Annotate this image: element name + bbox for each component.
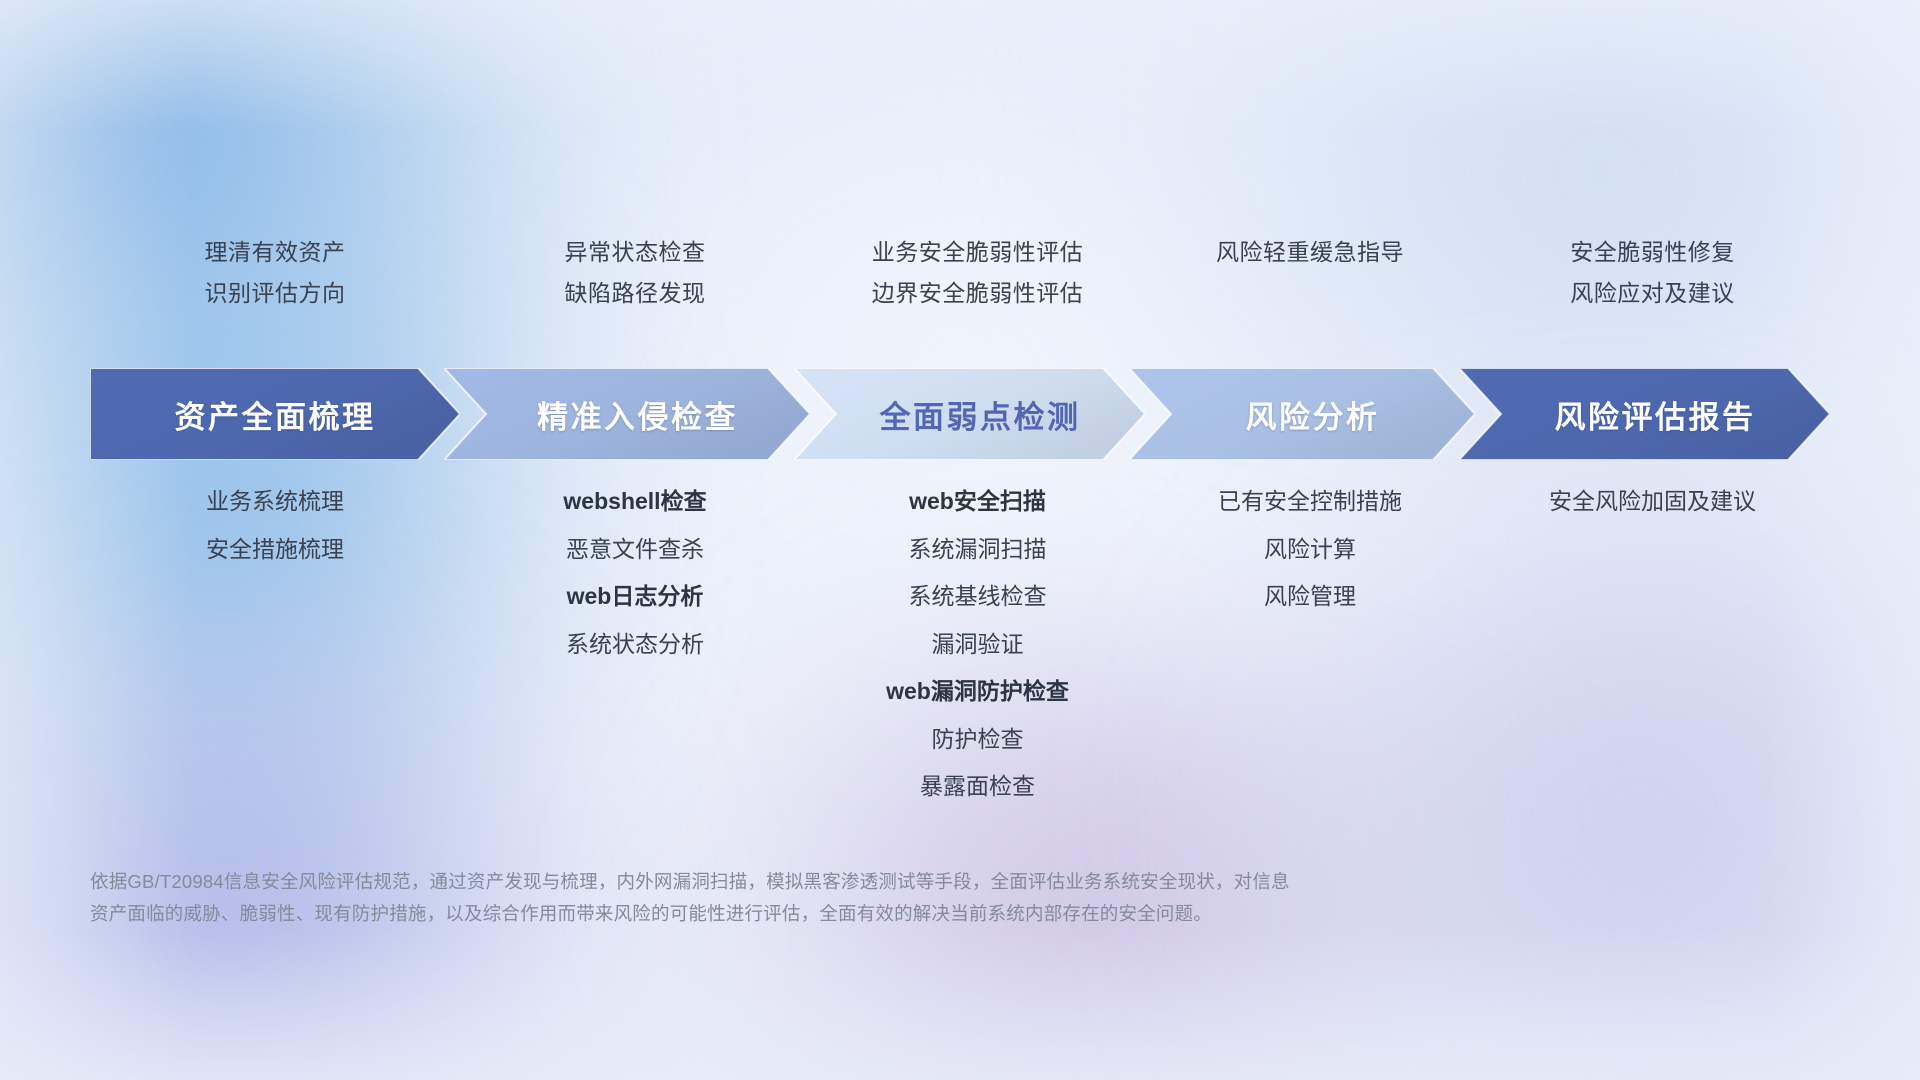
top-note-line: 缺陷路径发现 <box>460 273 810 314</box>
stage-items-weakness-detection: web安全扫描系统漏洞扫描系统基线检查漏洞验证web漏洞防护检查防护检查暴露面检… <box>810 478 1145 811</box>
footer-description: 依据GB/T20984信息安全风险评估规范，通过资产发现与梳理，内外网漏洞扫描，… <box>90 866 1610 930</box>
stage-label-weakness-detection: 全面弱点检测 <box>880 392 1081 437</box>
stage-label-intrusion-check: 精准入侵检查 <box>537 392 738 437</box>
stage-item: 防护检查 <box>810 716 1145 764</box>
stage-label-asset-review: 资产全面梳理 <box>175 392 376 437</box>
top-note-risk-report: 安全脆弱性修复风险应对及建议 <box>1475 232 1830 342</box>
stage-item: webshell检查 <box>460 478 810 526</box>
slide-root: 理清有效资产识别评估方向异常状态检查缺陷路径发现业务安全脆弱性评估边界安全脆弱性… <box>0 0 1920 1080</box>
stage-item: 恶意文件查杀 <box>460 526 810 574</box>
process-chevron-band: 资产全面梳理精准入侵检查全面弱点检测风险分析风险评估报告 <box>90 368 1830 460</box>
footer-line-2: 资产面临的威胁、脆弱性、现有防护措施，以及综合作用而带来风险的可能性进行评估，全… <box>90 898 1610 930</box>
top-note-line: 风险应对及建议 <box>1475 273 1830 314</box>
top-note-line: 业务安全脆弱性评估 <box>810 232 1145 273</box>
top-note-weakness-detection: 业务安全脆弱性评估边界安全脆弱性评估 <box>810 232 1145 342</box>
stage-item: 安全风险加固及建议 <box>1475 478 1830 526</box>
stage-label-risk-report: 风险评估报告 <box>1555 392 1756 437</box>
stage-item: 业务系统梳理 <box>90 478 460 526</box>
top-notes-row: 理清有效资产识别评估方向异常状态检查缺陷路径发现业务安全脆弱性评估边界安全脆弱性… <box>90 232 1830 342</box>
stage-item: web安全扫描 <box>810 478 1145 526</box>
top-note-line: 安全脆弱性修复 <box>1475 232 1830 273</box>
slide-content: 理清有效资产识别评估方向异常状态检查缺陷路径发现业务安全脆弱性评估边界安全脆弱性… <box>0 0 1920 1080</box>
top-note-risk-analysis: 风险轻重缓急指导 <box>1145 232 1475 342</box>
process-stage-asset-review[interactable]: 资产全面梳理 <box>90 368 460 460</box>
process-stage-intrusion-check[interactable]: 精准入侵检查 <box>444 368 810 460</box>
stage-item: 系统基线检查 <box>810 573 1145 621</box>
stage-items-asset-review: 业务系统梳理安全措施梳理 <box>90 478 460 811</box>
stage-items-risk-report: 安全风险加固及建议 <box>1475 478 1830 811</box>
top-note-line: 边界安全脆弱性评估 <box>810 273 1145 314</box>
process-stage-risk-report[interactable]: 风险评估报告 <box>1459 368 1830 460</box>
process-stage-risk-analysis[interactable]: 风险分析 <box>1129 368 1475 460</box>
top-note-intrusion-check: 异常状态检查缺陷路径发现 <box>460 232 810 342</box>
stage-item: 系统漏洞扫描 <box>810 526 1145 574</box>
stage-label-risk-analysis: 风险分析 <box>1246 392 1380 437</box>
stage-detail-lists: 业务系统梳理安全措施梳理webshell检查恶意文件查杀web日志分析系统状态分… <box>90 478 1830 811</box>
stage-item: 系统状态分析 <box>460 621 810 669</box>
top-note-line: 理清有效资产 <box>90 232 460 273</box>
stage-items-intrusion-check: webshell检查恶意文件查杀web日志分析系统状态分析 <box>460 478 810 811</box>
stage-item: 安全措施梳理 <box>90 526 460 574</box>
stage-item: 漏洞验证 <box>810 621 1145 669</box>
stage-item: web漏洞防护检查 <box>810 668 1145 716</box>
stage-item: 暴露面检查 <box>810 763 1145 811</box>
top-note-line: 识别评估方向 <box>90 273 460 314</box>
footer-line-1: 依据GB/T20984信息安全风险评估规范，通过资产发现与梳理，内外网漏洞扫描，… <box>90 866 1610 898</box>
stage-items-risk-analysis: 已有安全控制措施风险计算风险管理 <box>1145 478 1475 811</box>
process-stage-weakness-detection[interactable]: 全面弱点检测 <box>794 368 1145 460</box>
top-note-line: 风险轻重缓急指导 <box>1145 232 1475 273</box>
stage-item: 已有安全控制措施 <box>1145 478 1475 526</box>
stage-item: 风险管理 <box>1145 573 1475 621</box>
top-note-asset-review: 理清有效资产识别评估方向 <box>90 232 460 342</box>
stage-item: web日志分析 <box>460 573 810 621</box>
top-note-line: 异常状态检查 <box>460 232 810 273</box>
stage-item: 风险计算 <box>1145 526 1475 574</box>
